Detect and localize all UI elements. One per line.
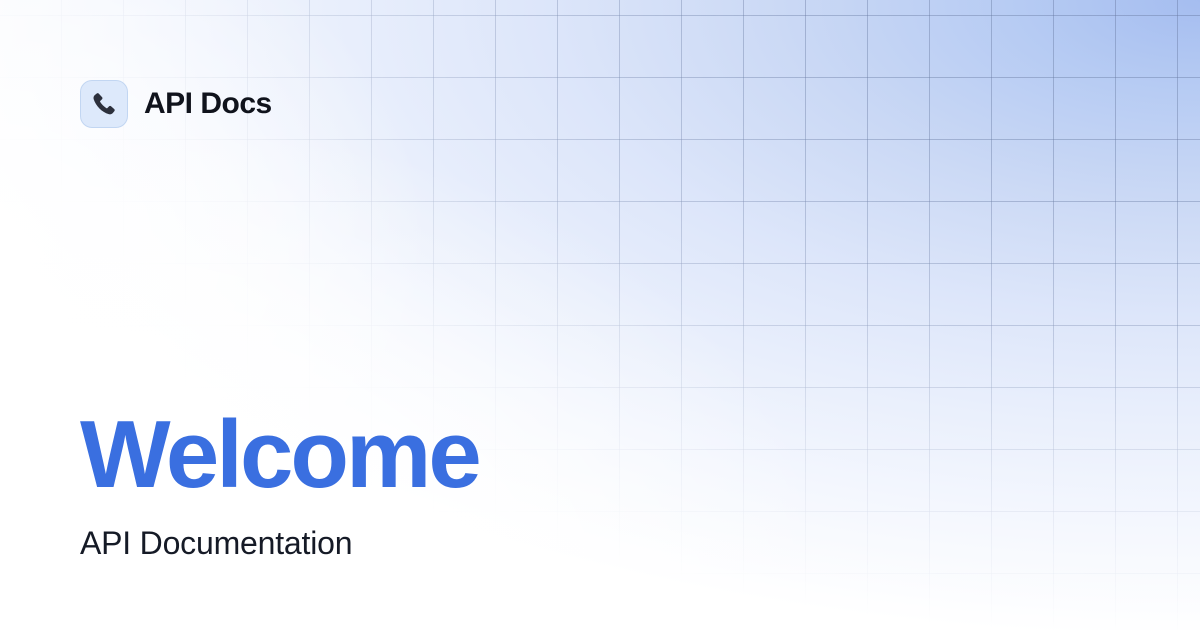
- brand-name: API Docs: [144, 89, 272, 119]
- page-title: Welcome: [80, 406, 479, 504]
- page-subtitle: API Documentation: [80, 524, 479, 562]
- og-card: API Docs Welcome API Documentation: [0, 0, 1200, 630]
- brand-icon-badge: [80, 80, 128, 128]
- telephone-icon: [91, 91, 118, 118]
- card-content: API Docs Welcome API Documentation: [0, 0, 1200, 630]
- hero-block: Welcome API Documentation: [80, 406, 479, 562]
- brand-lockup: API Docs: [80, 80, 272, 128]
